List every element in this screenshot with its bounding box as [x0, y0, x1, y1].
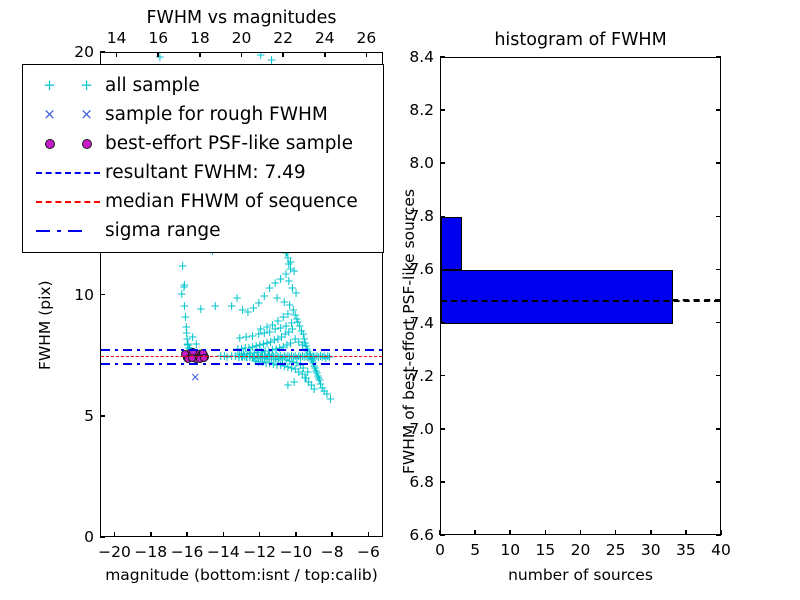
tick-mark — [100, 51, 105, 53]
tick-mark — [716, 428, 721, 430]
legend-entry: sigma range — [31, 216, 375, 245]
tick-mark — [440, 481, 445, 483]
tick-mark — [685, 530, 687, 535]
tick-mark — [150, 532, 152, 537]
plus-marker-icon: + — [80, 78, 93, 93]
legend-entry: ++all sample — [31, 71, 375, 100]
tick-mark — [282, 52, 284, 57]
red-dashed-line-icon — [36, 201, 100, 203]
tick-mark — [100, 294, 105, 296]
histogram-xtick-label: 5 — [455, 541, 495, 559]
legend-entry: ××sample for rough FWHM — [31, 100, 375, 129]
tick-mark — [440, 322, 445, 324]
legend-label: all sample — [105, 75, 200, 96]
legend-handle — [31, 129, 105, 158]
scatter-xlabel: magnitude (bottom:isnt / top:calib) — [100, 566, 383, 584]
histogram-xtick-label: 20 — [561, 541, 601, 559]
histogram-ytick-label: 6.8 — [392, 473, 434, 491]
cross-marker-icon: × — [80, 107, 93, 122]
histogram-bar — [441, 270, 673, 323]
tick-mark — [580, 530, 582, 535]
legend-label: resultant FWHM: 7.49 — [105, 162, 306, 183]
tick-mark — [114, 532, 116, 537]
scatter-xtick-label: −6 — [346, 543, 390, 561]
figure-canvas: FWHM vs magnitudes +++++++++++++++++++++… — [0, 0, 800, 600]
legend-label: median FHWM of sequence — [105, 191, 358, 212]
histogram-bars-layer — [441, 58, 720, 534]
dot-marker-icon — [45, 139, 55, 149]
tick-mark — [186, 532, 188, 537]
histogram-xlabel: number of sources — [440, 566, 721, 584]
legend-handle — [31, 158, 105, 187]
tick-mark — [223, 532, 225, 537]
histogram-xtick-label: 40 — [701, 541, 741, 559]
histogram-ytick-label: 8.4 — [392, 48, 434, 66]
reference-line — [101, 356, 382, 357]
tick-mark — [440, 375, 445, 377]
tick-mark — [474, 530, 476, 535]
tick-mark — [440, 428, 445, 430]
scatter-ytick-label: 10 — [52, 286, 94, 304]
scatter-ytick-label: 0 — [52, 528, 94, 546]
tick-mark — [716, 162, 721, 164]
tick-mark — [241, 52, 243, 57]
tick-mark — [100, 415, 105, 417]
tick-mark — [259, 532, 261, 537]
legend-handle — [31, 216, 105, 245]
histogram-axes — [440, 57, 721, 535]
tick-mark — [366, 52, 368, 57]
tick-mark — [716, 109, 721, 111]
legend-entry: resultant FWHM: 7.49 — [31, 158, 375, 187]
tick-mark — [440, 109, 445, 111]
tick-mark — [100, 536, 105, 538]
legend-handle — [31, 187, 105, 216]
tick-mark — [716, 534, 721, 536]
scatter-ytick-label: 20 — [52, 43, 94, 61]
scatter-ytick-label: 5 — [52, 407, 94, 425]
legend-box: ++all sample××sample for rough FWHMbest-… — [22, 64, 384, 253]
left-plot-title: FWHM vs magnitudes — [100, 8, 383, 28]
tick-mark — [157, 52, 159, 57]
tick-mark — [716, 481, 721, 483]
histogram-ytick-label: 6.6 — [392, 526, 434, 544]
scatter-toptick-label: 14 — [97, 29, 137, 47]
histogram-xtick-label: 15 — [525, 541, 565, 559]
dot-marker-icon — [82, 139, 92, 149]
legend-label: sigma range — [105, 220, 221, 241]
scatter-toptick-label: 22 — [263, 29, 303, 47]
reference-line — [101, 363, 382, 365]
histogram-ytick-label: 8.2 — [392, 101, 434, 119]
scatter-toptick-label: 18 — [180, 29, 220, 47]
tick-mark — [440, 56, 445, 58]
scatter-toptick-label: 26 — [346, 29, 386, 47]
scatter-ylabel: FWHM (pix) — [36, 280, 54, 370]
tick-mark — [324, 52, 326, 57]
tick-mark — [116, 52, 118, 57]
tick-mark — [509, 530, 511, 535]
histogram-xtick-label: 30 — [631, 541, 671, 559]
plus-marker-icon: + — [43, 78, 56, 93]
histogram-xtick-label: 10 — [490, 541, 530, 559]
tick-mark — [716, 216, 721, 218]
tick-mark — [716, 375, 721, 377]
tick-mark — [716, 56, 721, 58]
tick-mark — [440, 162, 445, 164]
legend-label: sample for rough FWHM — [105, 104, 328, 125]
tick-mark — [716, 269, 721, 271]
histogram-xtick-label: 35 — [666, 541, 706, 559]
tick-mark — [716, 322, 721, 324]
histogram-median-line-extension — [672, 299, 721, 301]
reference-line — [101, 349, 382, 351]
histogram-ylabel: FWHM of best-effort PSF-like sources — [400, 189, 418, 474]
scatter-toptick-label: 16 — [138, 29, 178, 47]
tick-mark — [615, 530, 617, 535]
histogram-plot-title: histogram of FWHM — [440, 30, 721, 50]
tick-mark — [199, 52, 201, 57]
legend-entry: best-effort PSF-like sample — [31, 129, 375, 158]
blue-dashed-line-icon — [36, 172, 100, 174]
scatter-toptick-label: 24 — [305, 29, 345, 47]
tick-mark — [295, 532, 297, 537]
histogram-ytick-label: 8.0 — [392, 154, 434, 172]
tick-mark — [650, 530, 652, 535]
blue-dashdot-line-icon — [36, 230, 100, 232]
tick-mark — [440, 534, 445, 536]
cross-marker-icon: × — [43, 107, 56, 122]
tick-mark — [545, 530, 547, 535]
legend-handle: ++ — [31, 71, 105, 100]
legend-handle: ×× — [31, 100, 105, 129]
legend-label: best-effort PSF-like sample — [105, 133, 353, 154]
legend-entry: median FHWM of sequence — [31, 187, 375, 216]
histogram-xtick-label: 25 — [596, 541, 636, 559]
tick-mark — [440, 216, 445, 218]
histogram-bar — [441, 217, 462, 270]
tick-mark — [440, 269, 445, 271]
tick-mark — [368, 532, 370, 537]
scatter-toptick-label: 20 — [222, 29, 262, 47]
tick-mark — [331, 532, 333, 537]
